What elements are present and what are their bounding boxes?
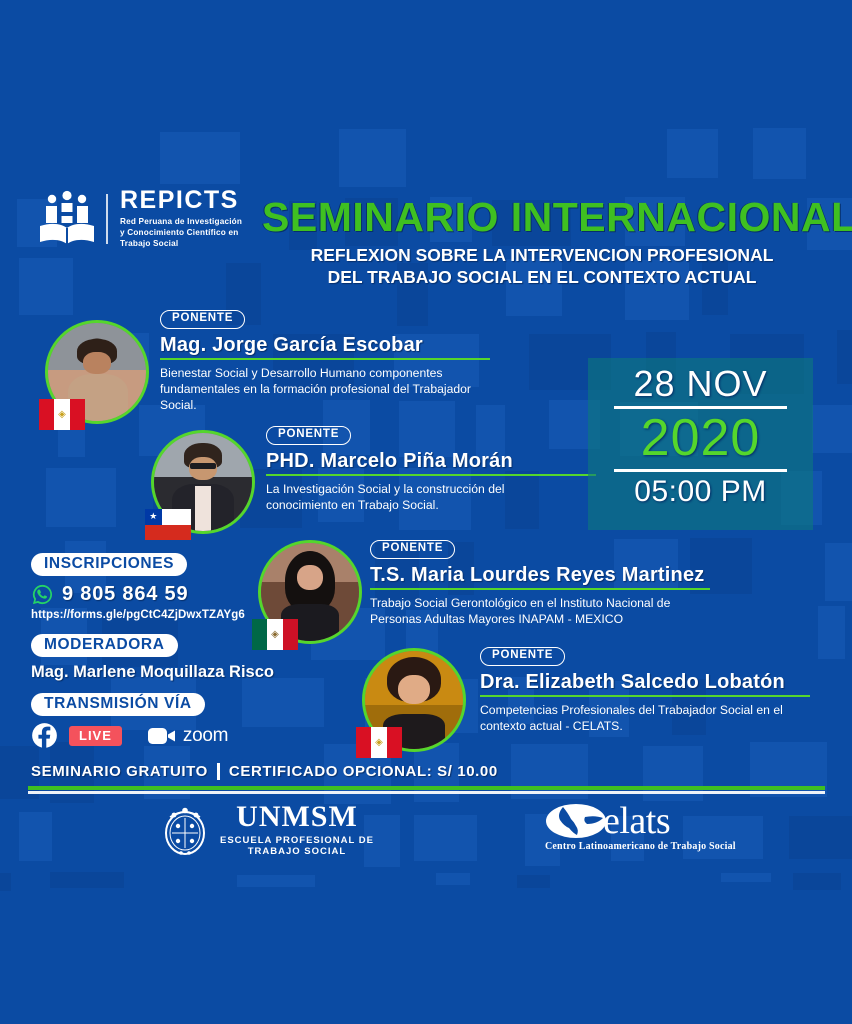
repicts-logo: REPICTS Red Peruana de Investigación y C… [36, 188, 242, 249]
celats-logo: elats Centro Latinoamericano de Trabajo … [545, 802, 736, 852]
repicts-tagline: Red Peruana de Investigación y Conocimie… [120, 216, 242, 249]
speaker-name: Dra. Elizabeth Salcedo Lobatón [480, 671, 810, 694]
unmsm-sub2: TRABAJO SOCIAL [220, 846, 374, 857]
speaker-rule [480, 695, 810, 698]
whatsapp-number[interactable]: 9 805 864 59 [62, 583, 188, 606]
celats-name: elats [603, 802, 670, 840]
speaker-description: Trabajo Social Gerontológico en el Insti… [370, 595, 695, 627]
subtitle-line-1: REFLEXION SOBRE LA INTERVENCION PROFESIO… [262, 245, 822, 267]
open-book-people-icon [36, 190, 98, 248]
pricing-line: SEMINARIO GRATUITO CERTIFICADO OPCIONAL:… [31, 763, 498, 780]
registration-form-link[interactable]: https://forms.gle/pgCtC4ZjDwxTZAYg6 [31, 609, 245, 621]
title-block: SEMINARIO INTERNACIONAL REFLEXION SOBRE … [262, 196, 822, 289]
whatsapp-contact[interactable]: 9 805 864 59 [31, 583, 188, 606]
inscripciones-label: INSCRIPCIONES [31, 553, 187, 576]
speaker-rule [370, 588, 710, 591]
celats-row: elats [545, 802, 736, 840]
speaker-name: T.S. Maria Lourdes Reyes Martinez [370, 564, 700, 587]
event-time: 05:00 PM [588, 475, 813, 509]
moderadora-label: MODERADORA [31, 634, 178, 657]
transmision-heading: TRANSMISIÓN VÍA [31, 693, 205, 716]
whatsapp-icon[interactable] [31, 583, 54, 606]
ponente-badge: PONENTE [160, 310, 245, 329]
transmision-label: TRANSMISIÓN VÍA [31, 693, 205, 716]
unmsm-crest-icon [160, 803, 210, 857]
unmsm-logo: UNMSM ESCUELA PROFESIONAL DE TRABAJO SOC… [160, 802, 374, 857]
speaker-description: Bienestar Social y Desarrollo Humano com… [160, 365, 480, 413]
pricing-separator [217, 763, 220, 780]
moderadora-heading: MODERADORA [31, 634, 178, 657]
speaker-info: PONENTE T.S. Maria Lourdes Reyes Martine… [370, 538, 700, 627]
date-panel: 28 NOV 2020 05:00 PM [588, 358, 813, 530]
mexico-flag: ◈ [252, 619, 298, 650]
subtitle-line-2: DEL TRABAJO SOCIAL EN EL CONTEXTO ACTUAL [262, 267, 822, 289]
logo-divider [106, 194, 108, 244]
unmsm-name: UNMSM [220, 802, 374, 832]
date-divider-bottom [614, 469, 787, 472]
speaker-name: PHD. Marcelo Piña Morán [266, 450, 596, 473]
divider-green [28, 786, 825, 790]
speaker-info: PONENTE Mag. Jorge García Escobar Bienes… [160, 308, 490, 413]
avatar: ◈ [258, 540, 362, 644]
zoom-label[interactable]: zoom [183, 725, 228, 747]
repicts-name: REPICTS [120, 188, 242, 213]
avatar: ◈ [45, 320, 149, 424]
broadcast-channels: LIVE zoom [31, 722, 228, 749]
unmsm-sub1: ESCUELA PROFESIONAL DE [220, 835, 374, 846]
page-title: SEMINARIO INTERNACIONAL [262, 196, 822, 239]
peru-flag: ◈ [356, 727, 402, 758]
peru-flag: ◈ [39, 399, 85, 430]
moderator-name: Mag. Marlene Moquillaza Risco [31, 663, 274, 682]
facebook-icon[interactable] [31, 722, 58, 749]
unmsm-wordmark: UNMSM ESCUELA PROFESIONAL DE TRABAJO SOC… [220, 802, 374, 857]
celats-globe-icon [545, 802, 607, 840]
event-date: 28 NOV [588, 358, 813, 404]
event-year: 2020 [588, 411, 813, 466]
seminar-poster: REPICTS Red Peruana de Investigación y C… [0, 0, 852, 1024]
live-badge: LIVE [69, 726, 122, 746]
speaker-description: La Investigación Social y la construcció… [266, 481, 556, 513]
speaker-rule [160, 358, 490, 361]
inscripciones-heading: INSCRIPCIONES [31, 553, 187, 576]
chile-flag: ★ [145, 509, 191, 540]
certificate-label: CERTIFICADO OPCIONAL: S/ 10.00 [229, 763, 498, 780]
speaker-name: Mag. Jorge García Escobar [160, 334, 490, 357]
divider-white [28, 791, 825, 794]
ponente-badge: PONENTE [480, 647, 565, 666]
page-subtitle: REFLEXION SOBRE LA INTERVENCION PROFESIO… [262, 245, 822, 289]
free-seminar-label: SEMINARIO GRATUITO [31, 763, 208, 780]
speaker-info: PONENTE PHD. Marcelo Piña Morán La Inves… [266, 424, 596, 513]
speaker-rule [266, 474, 596, 477]
speaker-description: Competencias Profesionales del Trabajado… [480, 702, 795, 734]
celats-tagline: Centro Latinoamericano de Trabajo Social [545, 841, 736, 852]
zoom-camera-icon[interactable] [147, 725, 177, 747]
repicts-wordmark: REPICTS Red Peruana de Investigación y C… [120, 188, 242, 249]
avatar: ◈ [362, 648, 466, 752]
ponente-badge: PONENTE [266, 426, 351, 445]
avatar: ★ [151, 430, 255, 534]
zoom-channel[interactable]: zoom [147, 725, 228, 747]
speaker-info: PONENTE Dra. Elizabeth Salcedo Lobatón C… [480, 645, 810, 734]
ponente-badge: PONENTE [370, 540, 455, 559]
